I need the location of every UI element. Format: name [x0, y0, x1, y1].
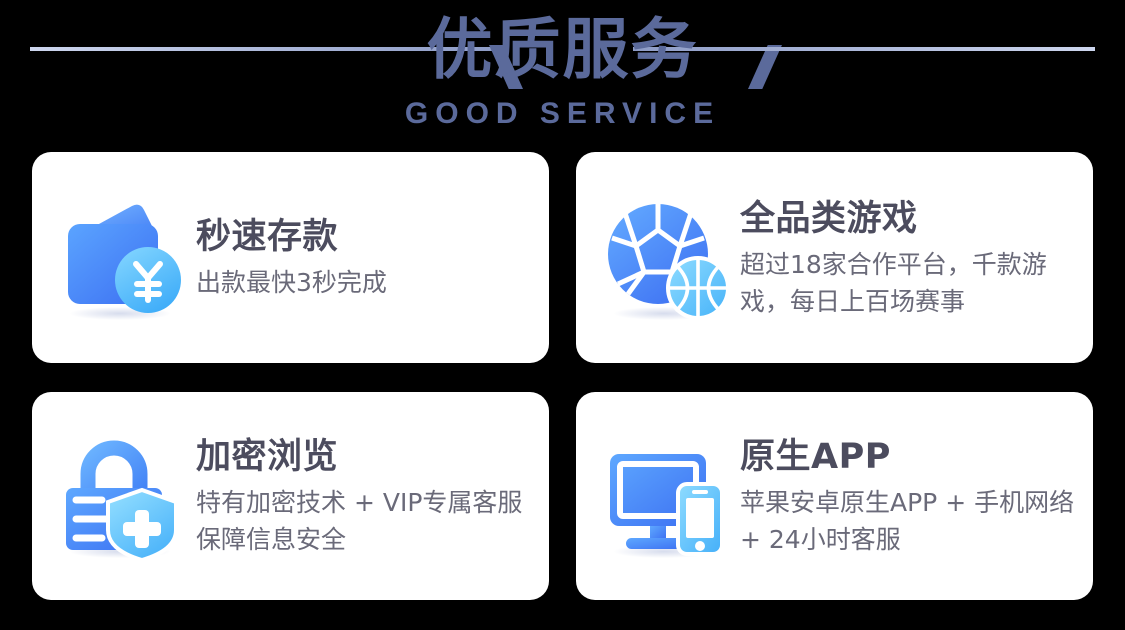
service-card-encryption[interactable]: 加密浏览 特有加密技术 + VIP专属客服保障信息安全	[32, 392, 549, 600]
card-title: 加密浏览	[196, 434, 531, 480]
card-text-slot: 秒速存款 出款最快3秒完成	[190, 214, 531, 301]
card-description: 出款最快3秒完成	[196, 264, 531, 301]
service-card-grid: 秒速存款 出款最快3秒完成	[32, 152, 1093, 600]
wallet-yen-icon	[58, 192, 190, 324]
card-icon-slot	[58, 430, 190, 562]
card-icon-slot	[58, 192, 190, 324]
service-card-deposit[interactable]: 秒速存款 出款最快3秒完成	[32, 152, 549, 363]
card-text-slot: 原生APP 苹果安卓原生APP + 手机网络 + 24小时客服	[734, 434, 1075, 558]
page-title: 优质服务	[0, 10, 1125, 90]
card-description: 特有加密技术 + VIP专属客服保障信息安全	[196, 484, 531, 558]
service-banner: 优质服务 GOOD SERVICE	[0, 0, 1125, 630]
service-card-native-app[interactable]: 原生APP 苹果安卓原生APP + 手机网络 + 24小时客服	[576, 392, 1093, 600]
banner-header: 优质服务 GOOD SERVICE	[0, 0, 1125, 146]
monitor-phone-icon	[602, 430, 734, 562]
soccer-basketball-icon	[602, 192, 734, 324]
page-subtitle: GOOD SERVICE	[0, 96, 1125, 132]
service-card-games[interactable]: 全品类游戏 超过18家合作平台，千款游戏，每日上百场赛事	[576, 152, 1093, 363]
card-title: 全品类游戏	[740, 196, 1075, 242]
card-title: 秒速存款	[196, 214, 531, 260]
card-text-slot: 加密浏览 特有加密技术 + VIP专属客服保障信息安全	[190, 434, 531, 558]
lock-shield-icon	[58, 430, 190, 562]
card-icon-slot	[602, 192, 734, 324]
card-title: 原生APP	[740, 434, 1075, 480]
card-icon-slot	[602, 430, 734, 562]
card-description: 超过18家合作平台，千款游戏，每日上百场赛事	[740, 246, 1075, 320]
card-description: 苹果安卓原生APP + 手机网络 + 24小时客服	[740, 484, 1075, 558]
card-text-slot: 全品类游戏 超过18家合作平台，千款游戏，每日上百场赛事	[734, 196, 1075, 320]
